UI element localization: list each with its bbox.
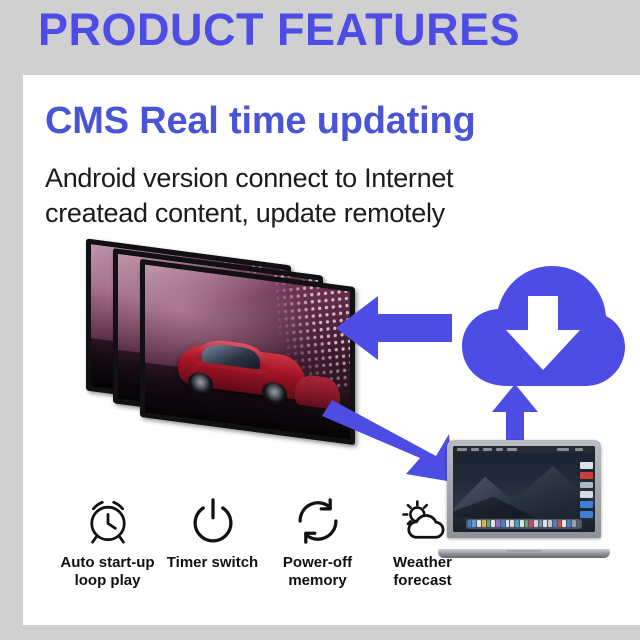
feature-icon-row: Auto start-up loop play Timer switch (55, 495, 475, 623)
feature-power-off-memory: Power-off memory (265, 495, 370, 591)
desktop-sidebar-windows (580, 462, 593, 518)
feature-label-line1: Auto start-up (60, 554, 154, 571)
feature-label: Timer switch (167, 554, 258, 572)
menu-bar (453, 446, 595, 453)
subtitle-line-2: createad content, update remotely (45, 198, 445, 229)
desktop-wallpaper (453, 453, 595, 532)
feature-label-line1: Power-off (283, 554, 352, 571)
banner: PRODUCT FEATURES (0, 0, 640, 75)
laptop-screen (453, 446, 595, 532)
feature-auto-start-up: Auto start-up loop play (55, 495, 160, 591)
feature-label: Auto start-up loop play (60, 554, 154, 591)
laptop-lid (447, 440, 601, 538)
feature-label-line1: Timer switch (167, 554, 258, 571)
feature-label-line2: forecast (393, 572, 451, 589)
feature-timer-switch: Timer switch (160, 495, 265, 572)
macbook-laptop (438, 440, 610, 562)
display-stack (78, 250, 343, 440)
laptop-notch (507, 550, 541, 553)
arrow-left-icon (334, 292, 454, 364)
subtitle-line-1: Android version connect to Internet (45, 163, 453, 194)
headline: CMS Real time updating (45, 100, 476, 143)
feature-label-line2: memory (288, 572, 346, 589)
dock[interactable] (466, 519, 582, 529)
product-features-slide: PRODUCT FEATURES CMS Real time updating … (0, 0, 640, 640)
alarm-clock-icon (82, 495, 134, 547)
feature-label-line2: loop play (75, 572, 141, 589)
feature-label: Power-off memory (283, 554, 352, 591)
arrow-diagonal-down-right-icon (316, 398, 456, 486)
power-icon (187, 495, 239, 547)
refresh-cycle-icon (292, 495, 344, 547)
page-title: PRODUCT FEATURES (38, 4, 520, 56)
cloud-download-icon (458, 258, 628, 390)
